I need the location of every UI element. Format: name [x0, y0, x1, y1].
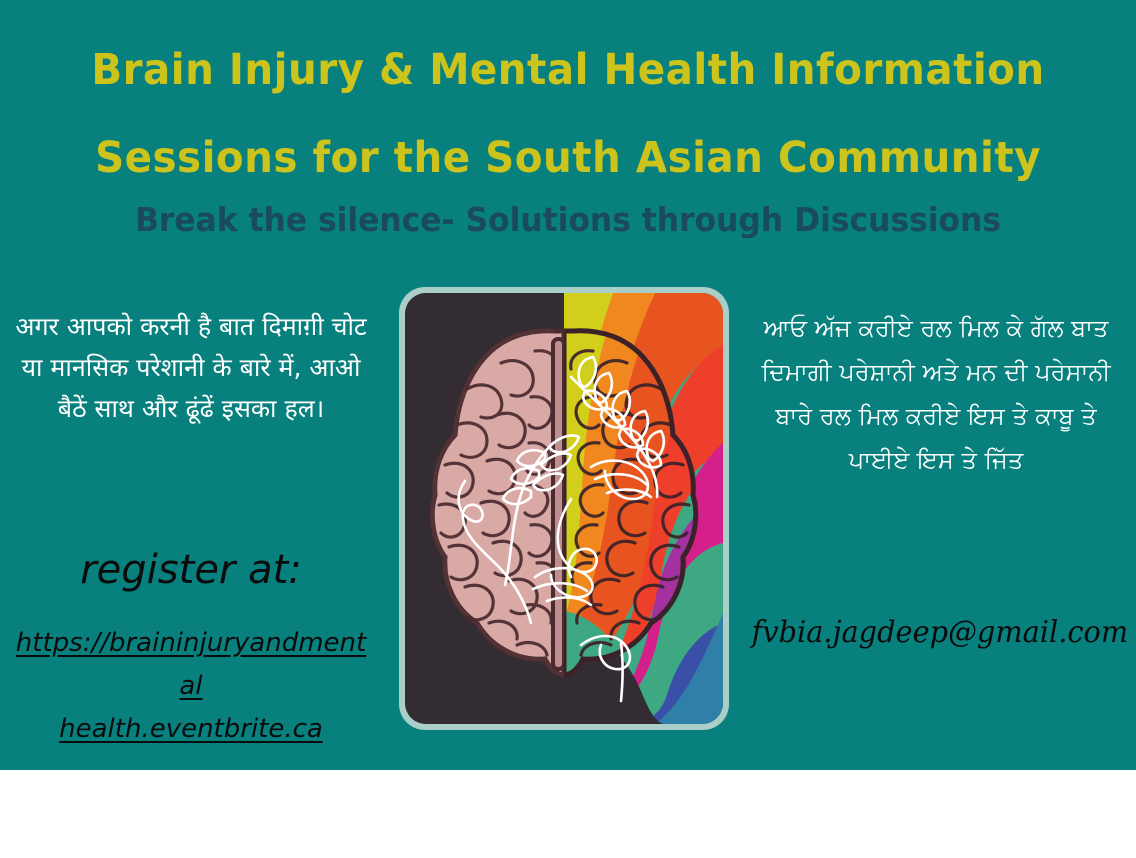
- poster-root: Brain Injury & Mental Health Information…: [0, 0, 1136, 858]
- subtitle: Break the silence- Solutions through Dis…: [28, 198, 1107, 242]
- brain-illustration-frame: [399, 287, 729, 730]
- punjabi-body-text: ਆਓ ਅੱਜ ਕਰੀਏ ਰਲ ਮਿਲ ਕੇ ਗੱਲ ਬਾਤ ਦਿਮਾਗੀ ਪਰੇ…: [744, 306, 1128, 482]
- contact-email[interactable]: fvbia.jagdeep@gmail.com: [752, 612, 1121, 654]
- split-brain-icon: [405, 293, 723, 724]
- registration-link-line-1: https://braininjuryandmental: [16, 628, 366, 701]
- register-block: register at: https://braininjuryandmenta…: [8, 540, 374, 751]
- registration-link-line-2: health.eventbrite.ca: [8, 708, 374, 751]
- brain-illustration: [405, 293, 723, 724]
- hindi-body-text: अगर आपको करनी है बात दिमाग़ी चोट या मानस…: [8, 306, 374, 429]
- footer-bar: Jagdeep Hayre: [0, 770, 1136, 858]
- registration-link[interactable]: https://braininjuryandmental health.even…: [8, 600, 374, 751]
- register-label: register at:: [8, 540, 374, 600]
